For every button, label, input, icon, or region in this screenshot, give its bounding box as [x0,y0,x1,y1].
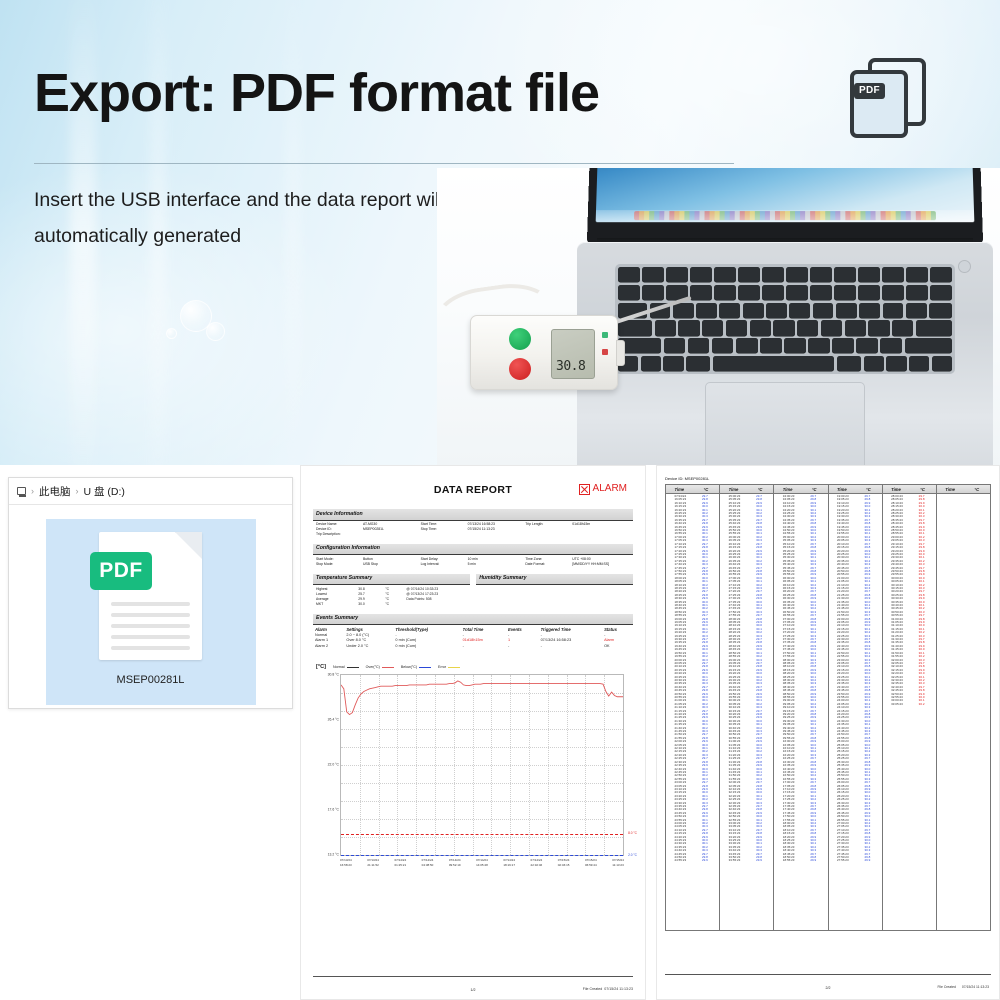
data-column-header-cell: Time [937,485,964,493]
device-information-grid: Device Name:AT-MG30 Device ID:MSEP00281L… [313,521,633,537]
temperature-summary-rows: Highest30.8°C@ 07/14/24 10:33:23 Lowest2… [313,585,470,606]
logger-usb-connector [616,340,625,366]
temperature-chart: [°C] Normal Over(°C) Below(°C) Error 30.… [313,663,633,867]
data-column-header-cell: °C [909,485,936,493]
table-row: 18:55:2329.9 [776,859,825,862]
data-column-rows: 34:00:2329.734:05:2329.834:10:2329.934:1… [774,494,827,930]
file-list: PDF MSEP00281L [9,505,292,705]
logger-lcd-value: 30.8 [556,361,585,373]
chart-x-tick: 07/15/2411:13:23 [612,858,624,867]
data-column-header-cell: °C [963,485,990,493]
laptop-photo: 30.8 [437,168,1000,465]
data-column-rows [937,494,990,930]
pdf-document-icon: PDF [848,58,934,140]
chart-x-tick: 07/15/2406:59:44 [585,858,597,867]
bottom-section: › 此电脑 › U 盘 (D:) PDF MSEP00281L DATA REP… [0,465,1000,1000]
field-date-format: Date Format:[MM/DD/YY HH:MM:SS] [525,562,630,567]
data-column-header: Time°C [883,485,936,494]
chart-unit-label: [°C] [316,663,326,671]
data-column-header-cell: Time [883,485,910,493]
data-logger-device: 30.8 [470,315,618,390]
data-column-rows: 07/13/2429.716:05:2329.816:10:2329.916:1… [666,494,719,930]
chart-y-tick: 22.0 °C [317,763,339,768]
report-title: DATA REPORT [434,483,512,498]
data-column-header: Time°C [666,485,719,494]
led-green-icon [602,332,608,338]
legend-item-normal: Normal [333,665,359,670]
data-column-header-cell: Time [720,485,747,493]
data-column-header: Time°C [720,485,773,494]
breadcrumb-item-usb-drive[interactable]: U 盘 (D:) [84,484,125,499]
logger-lcd-display: 30.8 [551,329,595,379]
key-row [618,285,952,300]
field-log-interval: Log Interval:5 min [421,562,526,567]
file-explorer-window: › 此电脑 › U 盘 (D:) PDF MSEP00281L [8,477,293,709]
chart-x-axis-labels: 07/13/2416:58:2307/13/2421:11:5207/14/24… [340,858,624,867]
data-column-header-cell: Time [774,485,801,493]
footer-divider [665,974,991,975]
data-column-header: Time°C [937,485,990,494]
key-row [618,267,952,282]
alarm-label: ALARM [593,482,627,497]
laptop-trackpad [705,382,865,465]
section-events-summary: Events Summary [313,614,633,626]
decorative-bubble [166,328,177,339]
chart-x-tick: 07/13/2421:11:52 [367,858,379,867]
chart-x-tick: 07/14/2414:05:48 [476,858,488,867]
data-column-header: Time°C [829,485,882,494]
field-stop-mode: Stop Mode:USB Stop [316,562,421,567]
chart-x-tick: 07/15/2402:46:15 [558,858,570,867]
file-created-value: 07/15/24 11:13:23 [604,987,633,991]
legend-item-error: Error [438,665,460,670]
table-row: 33:55:2329.9 [722,859,771,862]
pdf-icon-label: PDF [854,83,885,99]
breadcrumb-separator: › [76,486,79,496]
file-created-label: File Created [937,985,955,989]
data-column-header-cell: °C [747,485,774,493]
hero-banner: Export: PDF format file Insert the USB i… [0,0,1000,465]
logger-start-button [509,328,531,350]
section-configuration-information: Configuration Information [313,544,633,556]
chart-y-tick: 26.4 °C [317,718,339,723]
data-column: Time°C [937,485,990,930]
datapage-device-id: Device ID: MSEP00281L [665,476,991,481]
chart-x-tick: 07/14/2401:25:21 [394,858,406,867]
macos-dock [634,211,936,220]
key-row [618,356,952,371]
chart-y-tick: 13.2 °C [317,853,339,858]
chart-x-tick: 07/14/2404:38:50 [422,858,434,867]
key-row [618,338,952,353]
doc-lines [111,602,190,657]
laptop-screen [596,168,975,222]
title-divider [34,163,734,164]
chart-x-tick: 07/13/2416:58:23 [340,858,352,867]
data-column-header-cell: Time [829,485,856,493]
chart-limit-low [341,855,623,856]
report-footer: File Created 07/15/24 11:13:23 [313,987,633,992]
page-title: Export: PDF format file [34,62,599,124]
chart-limit-high-label: 8.0 °C [628,831,637,836]
data-column: Time°C07/13/2429.716:05:2329.816:10:2329… [666,485,720,930]
computer-icon [17,487,26,495]
footer-divider [313,976,633,977]
file-created-value: 07/15/24 11:13:23 [962,985,989,989]
section-humidity-summary: Humidity Summary [476,574,633,586]
table-row: Alarm 2 Under 2.0 °C 0 min (Cum) - - - O… [313,644,633,650]
pdf-report-page-2: Device ID: MSEP00281L Time°C07/13/2429.7… [656,465,1000,1000]
data-column-rows: 28:00:2329.728:05:2329.828:10:2329.928:1… [883,494,936,930]
pdf-icon-front-sheet [850,70,908,138]
configuration-information-grid: Start Mode:Button Stop Mode:USB Stop Sta… [313,555,633,566]
section-device-information: Device Information [313,509,633,521]
key-row [618,320,952,335]
chart-legend: [°C] Normal Over(°C) Below(°C) Error [316,663,630,671]
breadcrumb-item-this-pc[interactable]: 此电脑 [39,484,71,499]
chart-x-tick: 07/14/2418:19:17 [503,858,515,867]
section-temperature-summary: Temperature Summary [313,574,470,586]
chart-x-tick: 07/14/2409:52:19 [449,858,461,867]
chart-plot-area: 30.8 °C26.4 °C22.0 °C17.6 °C13.2 °C8.0 °… [340,674,624,856]
data-column: Time°C25:00:2329.725:05:2329.825:10:2329… [720,485,774,930]
field-trip-length: Trip Length:01d18h15m [525,522,630,527]
legend-item-over: Over(°C) [366,665,394,670]
page-fold-icon [175,532,202,559]
data-column: Time°C28:00:2329.728:05:2329.828:10:2329… [883,485,937,930]
decorative-bubble [206,322,225,341]
data-readings-table: Time°C07/13/2429.716:05:2329.816:10:2329… [665,484,991,931]
chart-y-tick: 30.8 °C [317,673,339,678]
laptop-lid [587,168,983,243]
data-column-header-cell: °C [693,485,720,493]
temp-row-mkt: MKT30.0°C [316,602,467,607]
file-created-label: File Created [583,987,603,991]
events-summary-table: Alarm Settings Threshold(Type) Total Tim… [313,627,633,650]
chart-limit-low-label: 2.0 °C [628,853,637,858]
table-row: 24:55:2329.9 [668,859,717,862]
data-column-rows: 25:00:2329.725:05:2329.825:10:2329.925:1… [720,494,773,930]
breadcrumb[interactable]: › 此电脑 › U 盘 (D:) [9,478,292,505]
data-column-rows: 19:00:2329.719:05:2329.819:10:2329.919:1… [829,494,882,930]
legend-item-below: Below(°C) [401,665,431,670]
breadcrumb-separator: › [31,486,34,496]
pdf-report-page-1: DATA REPORT ALARM Device Information Dev… [300,465,646,1000]
file-item-pdf[interactable]: PDF MSEP00281L [46,519,256,705]
field-stop-time: Stop Time:07/15/24 11:13:23 [421,527,526,532]
laptop-keyboard [615,264,955,374]
led-red-icon [602,349,608,355]
data-column: Time°C19:00:2329.719:05:2329.819:10:2329… [829,485,883,930]
pdf-badge: PDF [90,552,152,590]
status-badge: ALARM [579,482,627,497]
table-row: 27:55:2329.9 [831,859,880,862]
alarm-x-icon [579,484,590,495]
page-subtitle: Insert the USB interface and the data re… [34,182,504,254]
pdf-file-icon: PDF [99,532,202,660]
datapage-footer: File Created 07/15/24 11:13:23 [937,985,989,989]
logger-stop-button [509,358,531,380]
file-name-label: MSEP00281L [117,674,185,686]
table-row: 33:05:2330.2 [885,703,934,706]
chart-x-tick: 07/14/2422:32:46 [531,858,543,867]
data-column-header-cell: Time [666,485,693,493]
report-header: DATA REPORT ALARM [313,480,633,502]
field-trip-description: Trip Description: [316,532,421,537]
chart-y-tick: 17.6 °C [317,808,339,813]
data-column: Time°C34:00:2329.734:05:2329.834:10:2329… [774,485,828,930]
chart-series-path [341,675,623,855]
data-column-header-cell: °C [855,485,882,493]
logger-status-leds [602,332,608,366]
power-button [958,260,971,273]
data-column-header: Time°C [774,485,827,494]
data-column-header-cell: °C [801,485,828,493]
